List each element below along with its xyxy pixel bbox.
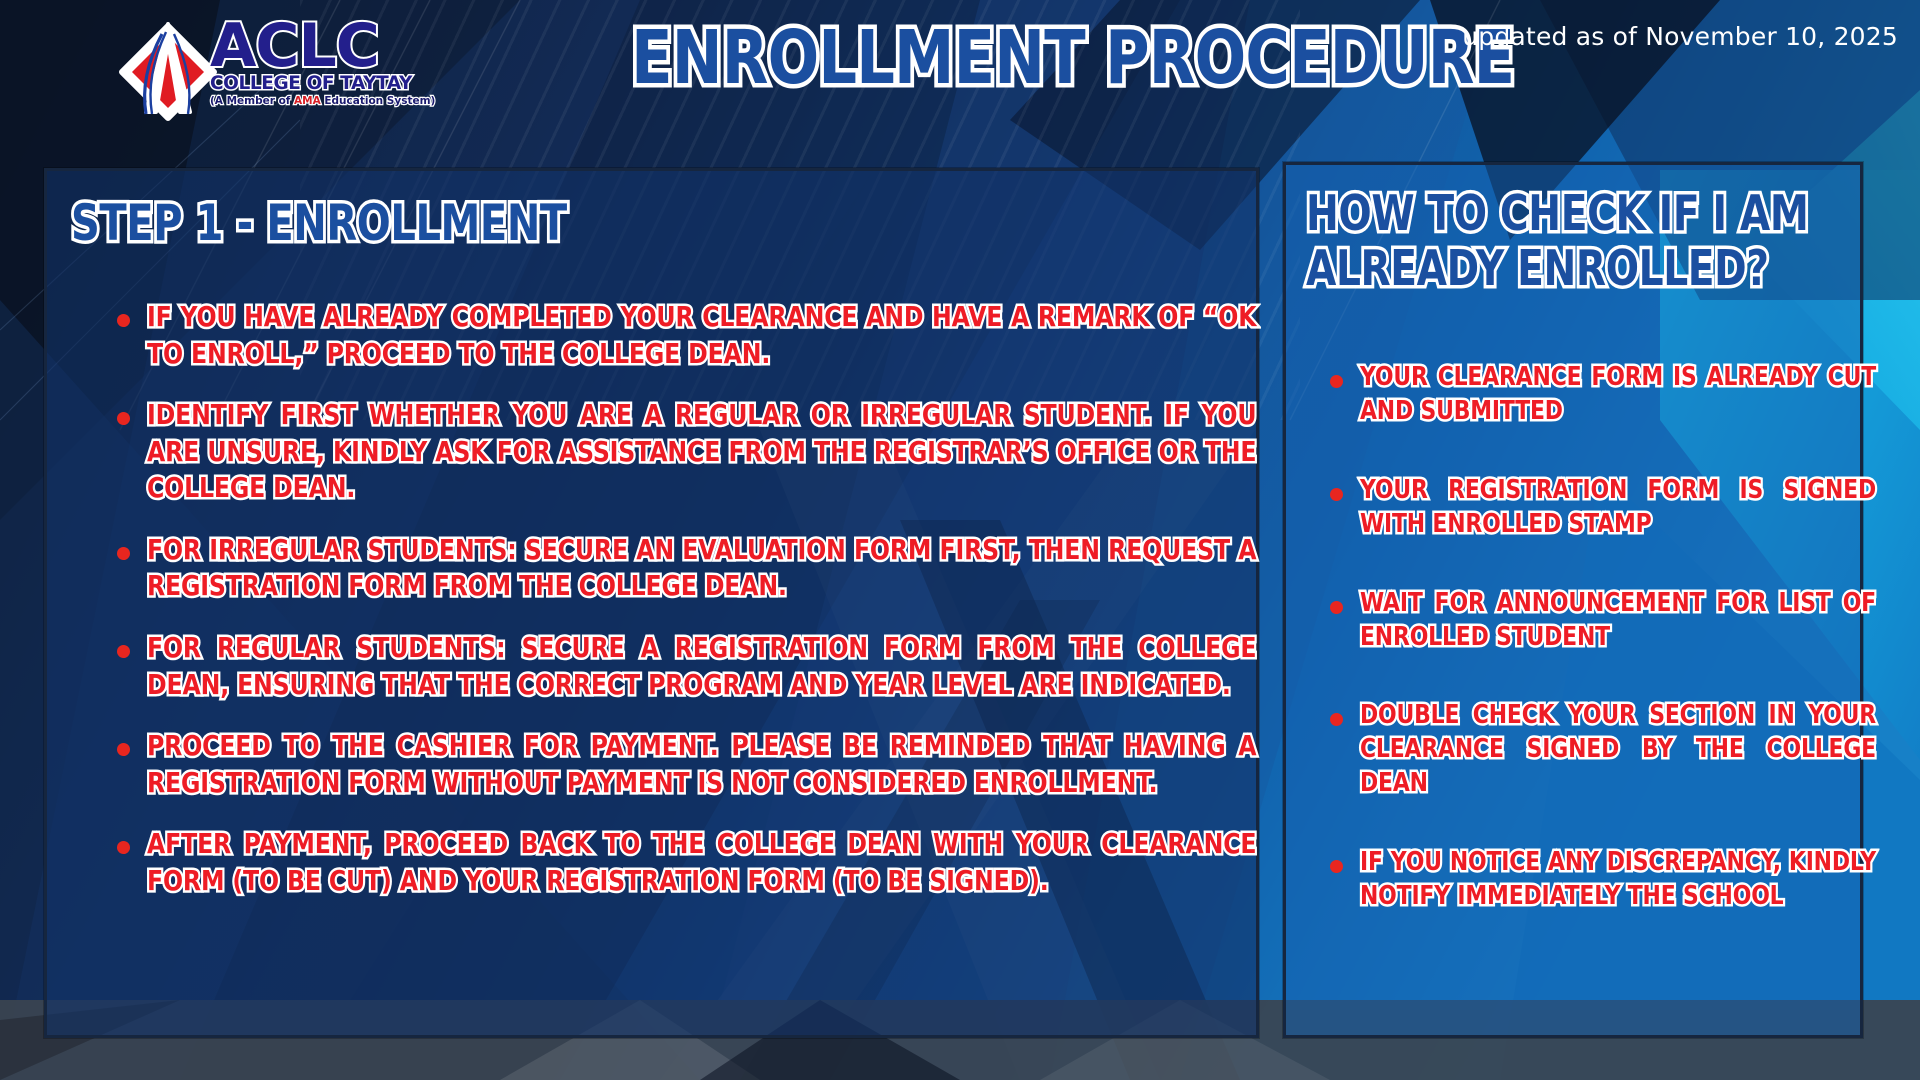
- logo-ama-brand: AMA: [294, 95, 321, 107]
- list-item: IF YOU HAVE ALREADY COMPLETED YOUR CLEAR…: [111, 299, 1251, 372]
- list-item: YOUR CLEARANCE FORM IS ALREADY CUT AND S…: [1322, 361, 1842, 429]
- logo-member-prefix: (A Member of: [210, 95, 294, 107]
- bullet-text-inner: YOUR REGISTRATION FORM IS SIGNED WITH EN…: [1360, 474, 1876, 542]
- list-item: PROCEED TO THE CASHIER FOR PAYMENT. PLEA…: [111, 728, 1251, 801]
- bullet-text-inner: IF YOU HAVE ALREADY COMPLETED YOUR CLEAR…: [147, 299, 1256, 372]
- how-to-check-bullet-list: YOUR CLEARANCE FORM IS ALREADY CUT AND S…: [1322, 361, 1842, 959]
- bullet-text: FOR IRREGULAR STUDENTS: SECURE AN EVALUA…: [147, 532, 1437, 605]
- bullet-text-inner: IDENTIFY FIRST WHETHER YOU ARE A REGULAR…: [147, 397, 1256, 507]
- bullet-text: IF YOU HAVE ALREADY COMPLETED YOUR CLEAR…: [147, 299, 1437, 372]
- logo-member-text: (A Member of AMA Education System): [210, 95, 420, 107]
- bullet-text: FOR REGULAR STUDENTS: SECURE A REGISTRAT…: [147, 630, 1437, 703]
- bullet-text-inner: WAIT FOR ANNOUNCEMENT FOR LIST OF ENROLL…: [1360, 587, 1876, 655]
- step-1-bullet-list: IF YOU HAVE ALREADY COMPLETED YOUR CLEAR…: [111, 299, 1251, 924]
- page-title: ENROLLMENT PROCEDURE: [631, 20, 1279, 98]
- bullet-text-inner: FOR REGULAR STUDENTS: SECURE A REGISTRAT…: [147, 630, 1256, 703]
- logo-college-text: COLLEGE OF TAYTAY: [210, 73, 420, 94]
- bullet-text-inner: PROCEED TO THE CASHIER FOR PAYMENT. PLEA…: [147, 728, 1256, 801]
- bullet-text: WAIT FOR ANNOUNCEMENT FOR LIST OF ENROLL…: [1360, 587, 1920, 655]
- list-item: WAIT FOR ANNOUNCEMENT FOR LIST OF ENROLL…: [1322, 587, 1842, 655]
- bullet-text-inner: FOR IRREGULAR STUDENTS: SECURE AN EVALUA…: [147, 532, 1256, 605]
- poster-canvas: ACLC COLLEGE OF TAYTAY (A Member of AMA …: [0, 0, 1920, 1080]
- list-item: FOR REGULAR STUDENTS: SECURE A REGISTRAT…: [111, 630, 1251, 703]
- list-item: IF YOU NOTICE ANY DISCREPANCY, KINDLY NO…: [1322, 846, 1842, 914]
- list-item: AFTER PAYMENT, PROCEED BACK TO THE COLLE…: [111, 826, 1251, 899]
- step-1-heading: STEP 1 - ENROLLMENT: [71, 195, 567, 251]
- logo-member-suffix: Education System): [321, 95, 436, 107]
- aclc-diamond-icon: [116, 20, 220, 124]
- bullet-text: YOUR CLEARANCE FORM IS ALREADY CUT AND S…: [1360, 361, 1920, 429]
- updated-date-label: updated as of November 10, 2025: [1462, 22, 1898, 51]
- logo-aclc-text: ACLC: [210, 18, 420, 75]
- bullet-text-inner: AFTER PAYMENT, PROCEED BACK TO THE COLLE…: [147, 826, 1256, 899]
- how-to-check-heading: HOW TO CHECK IF I AM ALREADY ENROLLED?: [1306, 187, 1882, 297]
- list-item: YOUR REGISTRATION FORM IS SIGNED WITH EN…: [1322, 474, 1842, 542]
- how-to-check-panel: HOW TO CHECK IF I AM ALREADY ENROLLED? Y…: [1283, 162, 1863, 1038]
- bullet-text-inner: DOUBLE CHECK YOUR SECTION IN YOUR CLEARA…: [1360, 699, 1876, 801]
- bullet-text-inner: IF YOU NOTICE ANY DISCREPANCY, KINDLY NO…: [1360, 846, 1876, 914]
- bullet-text: AFTER PAYMENT, PROCEED BACK TO THE COLLE…: [147, 826, 1437, 899]
- list-item: DOUBLE CHECK YOUR SECTION IN YOUR CLEARA…: [1322, 699, 1842, 801]
- bullet-text: DOUBLE CHECK YOUR SECTION IN YOUR CLEARA…: [1360, 699, 1920, 801]
- bullet-text: YOUR REGISTRATION FORM IS SIGNED WITH EN…: [1360, 474, 1920, 542]
- list-item: FOR IRREGULAR STUDENTS: SECURE AN EVALUA…: [111, 532, 1251, 605]
- bullet-text: IDENTIFY FIRST WHETHER YOU ARE A REGULAR…: [147, 397, 1437, 507]
- aclc-logo-text: ACLC COLLEGE OF TAYTAY (A Member of AMA …: [210, 18, 420, 107]
- list-item: IDENTIFY FIRST WHETHER YOU ARE A REGULAR…: [111, 397, 1251, 507]
- step-1-panel: STEP 1 - ENROLLMENT IF YOU HAVE ALREADY …: [44, 168, 1259, 1038]
- aclc-logo: ACLC COLLEGE OF TAYTAY (A Member of AMA …: [116, 12, 416, 130]
- bullet-text: PROCEED TO THE CASHIER FOR PAYMENT. PLEA…: [147, 728, 1437, 801]
- bullet-text: IF YOU NOTICE ANY DISCREPANCY, KINDLY NO…: [1360, 846, 1920, 914]
- bullet-text-inner: YOUR CLEARANCE FORM IS ALREADY CUT AND S…: [1360, 361, 1876, 429]
